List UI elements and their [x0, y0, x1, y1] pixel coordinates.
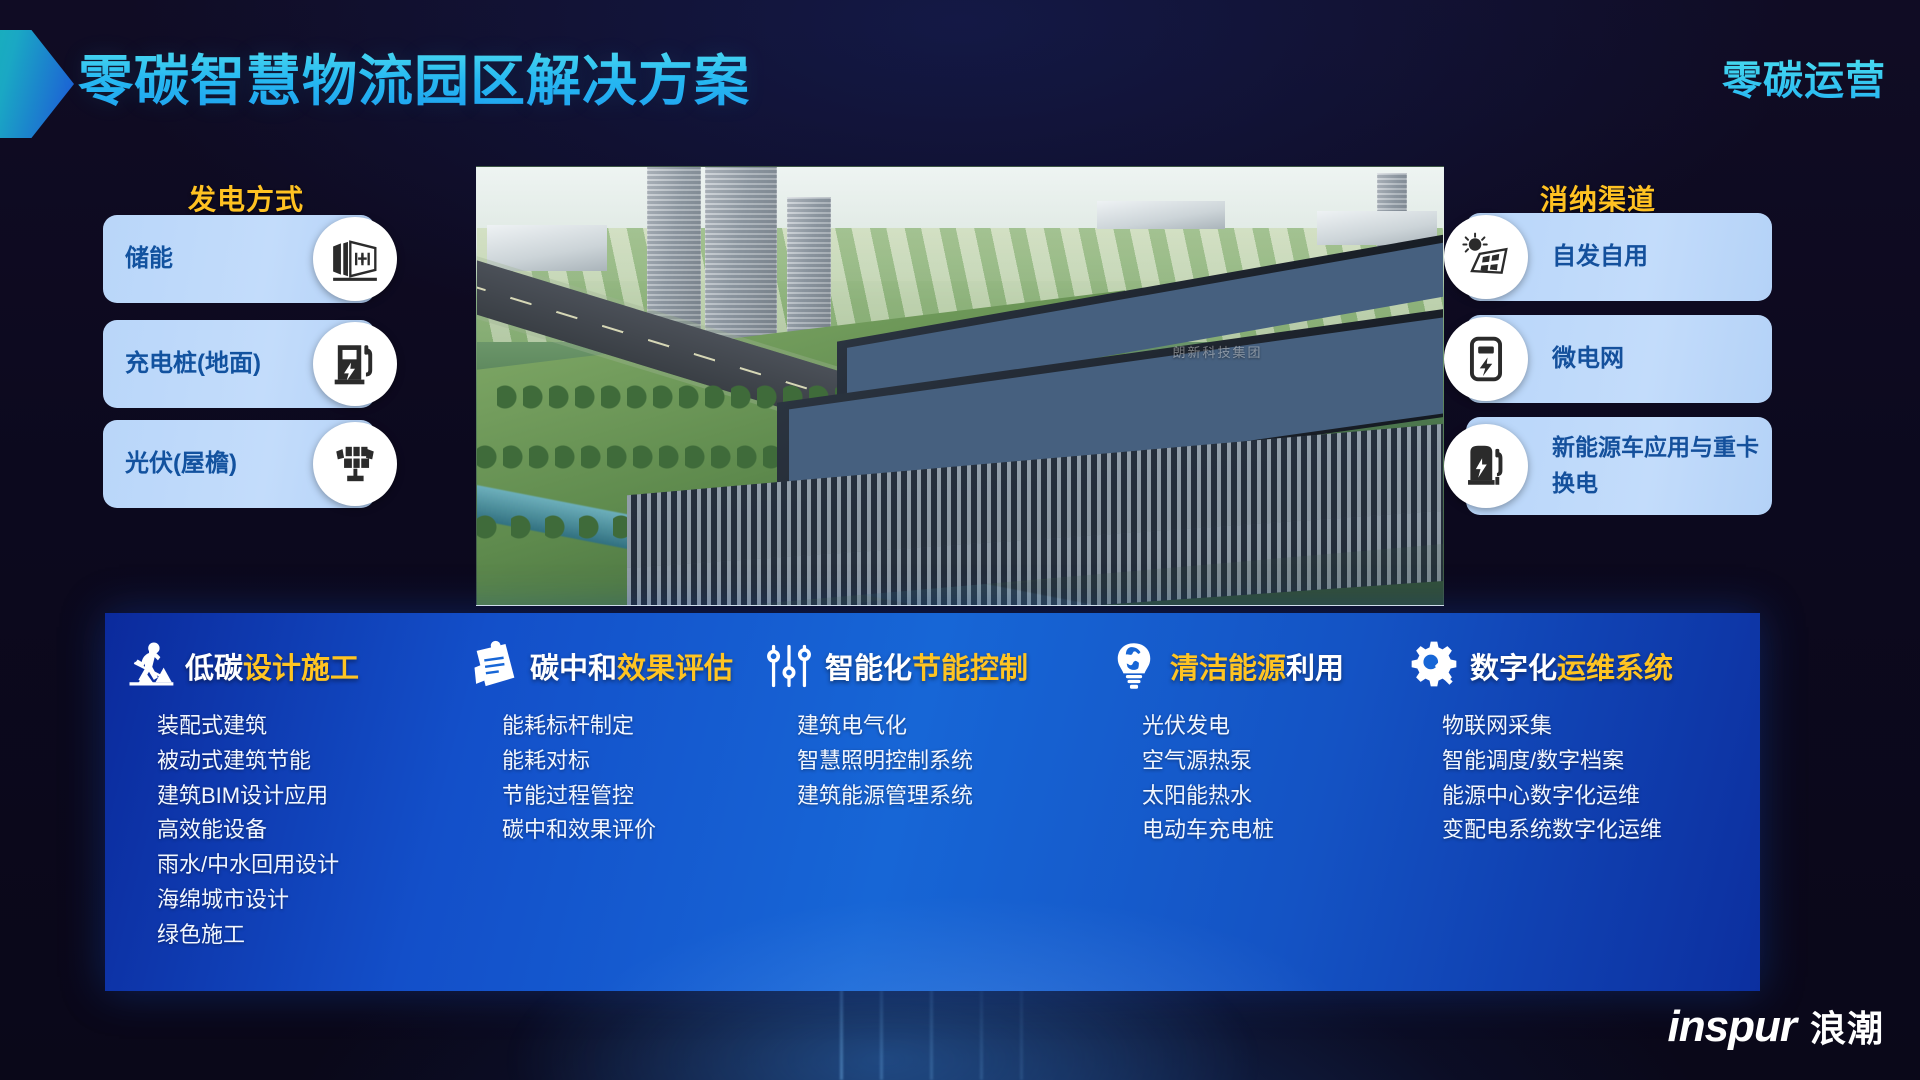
list-item: 光伏发电: [1142, 709, 1386, 744]
panel-column-low-carbon-design: 低碳设计施工 装配式建筑 被动式建筑节能 建筑BIM设计应用 高效能设备 雨水/…: [105, 637, 450, 991]
list-item: 空气源热泵: [1142, 744, 1386, 779]
panel-column-title: 低碳设计施工: [185, 645, 359, 687]
list-item: 高效能设备: [157, 813, 446, 848]
card-label: 自发自用: [1552, 241, 1648, 273]
panel-column-header: 碳中和效果评估: [468, 637, 741, 695]
panel-column-title: 数字化运维系统: [1470, 645, 1673, 687]
header-tag: 零碳运营: [1722, 48, 1886, 106]
list-item: 智能调度/数字档案: [1442, 744, 1756, 779]
logo-text-en: inspur: [1668, 1002, 1796, 1052]
list-item: 建筑BIM设计应用: [157, 779, 446, 814]
list-item: 能耗对标: [502, 744, 741, 779]
panel-column-title: 碳中和效果评估: [530, 645, 733, 687]
charging-pile-icon: [313, 322, 397, 406]
left-column-heading: 发电方式: [188, 178, 304, 218]
solar-sun-icon: [1444, 215, 1528, 299]
card-label: 储能: [125, 243, 173, 275]
list-item: 智慧照明控制系统: [797, 744, 1086, 779]
list-item: 电动车充电桩: [1142, 813, 1386, 848]
rendering-watermark: 朗新科技集团: [1173, 342, 1263, 361]
panel-column-list: 物联网采集 智能调度/数字档案 能源中心数字化运维 变配电系统数字化运维: [1408, 709, 1756, 848]
list-item: 建筑能源管理系统: [797, 779, 1086, 814]
card-micro-grid[interactable]: 微电网: [1466, 315, 1772, 403]
list-item: 能耗标杆制定: [502, 709, 741, 744]
panel-column-header: 低碳设计施工: [123, 637, 446, 695]
card-label: 充电桩(地面): [125, 348, 261, 380]
page-title: 零碳智慧物流园区解决方案: [78, 36, 750, 116]
park-rendering-image: 朗新科技集团: [476, 166, 1444, 606]
panel-column-header: 智能化节能控制: [763, 637, 1086, 695]
capability-panel: 低碳设计施工 装配式建筑 被动式建筑节能 建筑BIM设计应用 高效能设备 雨水/…: [105, 613, 1760, 991]
list-item: 海绵城市设计: [157, 883, 446, 918]
battery-container-icon: [313, 217, 397, 301]
list-item: 变配电系统数字化运维: [1442, 813, 1756, 848]
card-self-generation-use[interactable]: 自发自用: [1466, 213, 1772, 301]
list-item: 太阳能热水: [1142, 779, 1386, 814]
panel-column-list: 能耗标杆制定 能耗对标 节能过程管控 碳中和效果评价: [468, 709, 741, 848]
solar-panel-icon: [313, 422, 397, 506]
card-label: 光伏(屋檐): [125, 448, 237, 480]
list-item: 装配式建筑: [157, 709, 446, 744]
panel-column-intelligent-energy-control: 智能化节能控制 建筑电气化 智慧照明控制系统 建筑能源管理系统: [745, 637, 1090, 991]
construction-worker-icon: [123, 640, 175, 692]
panel-column-list: 建筑电气化 智慧照明控制系统 建筑能源管理系统: [763, 709, 1086, 813]
rendering-tower: [705, 166, 777, 359]
panel-column-title: 清洁能源利用: [1170, 645, 1344, 687]
list-item: 物联网采集: [1442, 709, 1756, 744]
ev-charger-icon: [1444, 424, 1528, 508]
sliders-control-icon: [763, 640, 815, 692]
rendering-building: [487, 225, 607, 271]
list-item: 节能过程管控: [502, 779, 741, 814]
panel-column-header: 清洁能源利用: [1108, 637, 1386, 695]
right-column-heading: 消纳渠道: [1540, 178, 1656, 218]
list-item: 能源中心数字化运维: [1442, 779, 1756, 814]
slide-root: 零碳智慧物流园区解决方案 零碳运营 发电方式 储能 充电桩(地面): [0, 0, 1920, 1080]
panel-column-carbon-neutral-assessment: 碳中和效果评估 能耗标杆制定 能耗对标 节能过程管控 碳中和效果评价: [450, 637, 745, 991]
list-item: 被动式建筑节能: [157, 744, 446, 779]
card-new-energy-vehicle-swap[interactable]: 新能源车应用与重卡换电: [1466, 417, 1772, 515]
panel-column-list: 装配式建筑 被动式建筑节能 建筑BIM设计应用 高效能设备 雨水/中水回用设计 …: [123, 709, 446, 952]
card-label: 新能源车应用与重卡换电: [1552, 430, 1772, 501]
micro-grid-icon: [1444, 317, 1528, 401]
card-label: 微电网: [1552, 343, 1624, 375]
card-pv-eaves[interactable]: 光伏(屋檐): [103, 420, 375, 508]
rendering-building: [1097, 201, 1225, 229]
lightbulb-globe-icon: [1108, 640, 1160, 692]
clipboard-report-icon: [468, 640, 520, 692]
panel-column-title: 智能化节能控制: [825, 645, 1028, 687]
list-item: 建筑电气化: [797, 709, 1086, 744]
brand-logo: inspur 浪潮: [1668, 1000, 1884, 1052]
card-energy-storage[interactable]: 储能: [103, 215, 375, 303]
panel-column-clean-energy-use: 清洁能源利用 光伏发电 空气源热泵 太阳能热水 电动车充电桩: [1090, 637, 1390, 991]
list-item: 绿色施工: [157, 918, 446, 953]
chevron-right-arrow-icon: [0, 30, 74, 138]
list-item: 碳中和效果评价: [502, 813, 741, 848]
panel-column-list: 光伏发电 空气源热泵 太阳能热水 电动车充电桩: [1108, 709, 1386, 848]
card-charging-pile-ground[interactable]: 充电桩(地面): [103, 320, 375, 408]
logo-text-cn: 浪潮: [1810, 1000, 1884, 1052]
gear-wrench-icon: [1408, 640, 1460, 692]
panel-column-header: 数字化运维系统: [1408, 637, 1756, 695]
panel-column-digital-ops-system: 数字化运维系统 物联网采集 智能调度/数字档案 能源中心数字化运维 变配电系统数…: [1390, 637, 1760, 991]
list-item: 雨水/中水回用设计: [157, 848, 446, 883]
